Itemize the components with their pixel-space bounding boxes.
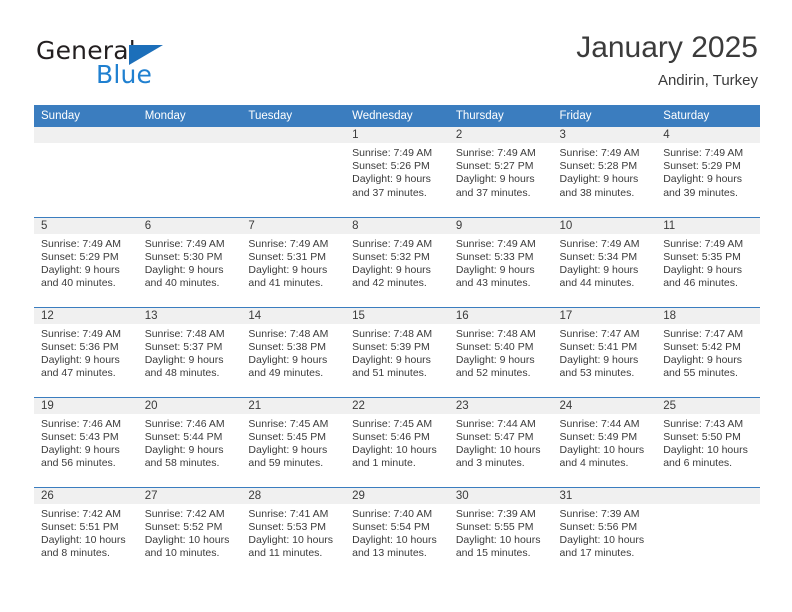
- daylight-duration-line1: Daylight: 9 hours: [145, 354, 236, 367]
- daylight-duration-line2: and 4 minutes.: [560, 457, 651, 470]
- day-details: Sunrise: 7:49 AMSunset: 5:33 PMDaylight:…: [449, 234, 553, 291]
- sunset-time: Sunset: 5:32 PM: [352, 251, 443, 264]
- calendar-day-cell[interactable]: 25Sunrise: 7:43 AMSunset: 5:50 PMDayligh…: [656, 397, 760, 487]
- calendar-day-cell[interactable]: 1Sunrise: 7:49 AMSunset: 5:26 PMDaylight…: [345, 127, 449, 217]
- calendar-day-cell[interactable]: 29Sunrise: 7:40 AMSunset: 5:54 PMDayligh…: [345, 487, 449, 577]
- daylight-duration-line1: Daylight: 9 hours: [248, 444, 339, 457]
- calendar-day-cell[interactable]: 24Sunrise: 7:44 AMSunset: 5:49 PMDayligh…: [553, 397, 657, 487]
- daylight-duration-line1: Daylight: 9 hours: [41, 354, 132, 367]
- day-number: 8: [345, 218, 449, 234]
- sunset-time: Sunset: 5:54 PM: [352, 521, 443, 534]
- daylight-duration-line2: and 40 minutes.: [41, 277, 132, 290]
- sunrise-time: Sunrise: 7:48 AM: [145, 328, 236, 341]
- sunrise-time: Sunrise: 7:48 AM: [248, 328, 339, 341]
- sunset-time: Sunset: 5:56 PM: [560, 521, 651, 534]
- daylight-duration-line1: Daylight: 10 hours: [248, 534, 339, 547]
- daylight-duration-line1: Daylight: 10 hours: [456, 444, 547, 457]
- daylight-duration-line2: and 51 minutes.: [352, 367, 443, 380]
- calendar-day-cell[interactable]: 8Sunrise: 7:49 AMSunset: 5:32 PMDaylight…: [345, 217, 449, 307]
- calendar-day-cell[interactable]: 13Sunrise: 7:48 AMSunset: 5:37 PMDayligh…: [138, 307, 242, 397]
- day-details: Sunrise: 7:49 AMSunset: 5:31 PMDaylight:…: [241, 234, 345, 291]
- day-details: Sunrise: 7:45 AMSunset: 5:46 PMDaylight:…: [345, 414, 449, 471]
- day-number: 27: [138, 488, 242, 504]
- sunset-time: Sunset: 5:42 PM: [663, 341, 754, 354]
- daylight-duration-line2: and 49 minutes.: [248, 367, 339, 380]
- daylight-duration-line2: and 38 minutes.: [560, 187, 651, 200]
- daylight-duration-line2: and 53 minutes.: [560, 367, 651, 380]
- day-details: Sunrise: 7:43 AMSunset: 5:50 PMDaylight:…: [656, 414, 760, 471]
- sunrise-time: Sunrise: 7:43 AM: [663, 418, 754, 431]
- day-details: Sunrise: 7:42 AMSunset: 5:51 PMDaylight:…: [34, 504, 138, 561]
- sunrise-time: Sunrise: 7:42 AM: [41, 508, 132, 521]
- daylight-duration-line1: Daylight: 9 hours: [560, 354, 651, 367]
- day-number: 25: [656, 398, 760, 414]
- daylight-duration-line2: and 8 minutes.: [41, 547, 132, 560]
- daylight-duration-line1: Daylight: 9 hours: [663, 173, 754, 186]
- daylight-duration-line2: and 40 minutes.: [145, 277, 236, 290]
- day-details: Sunrise: 7:44 AMSunset: 5:49 PMDaylight:…: [553, 414, 657, 471]
- daylight-duration-line1: Daylight: 9 hours: [663, 354, 754, 367]
- weekday-header-saturday: Saturday: [656, 105, 760, 127]
- daylight-duration-line1: Daylight: 10 hours: [663, 444, 754, 457]
- sunset-time: Sunset: 5:46 PM: [352, 431, 443, 444]
- daylight-duration-line2: and 17 minutes.: [560, 547, 651, 560]
- day-details: Sunrise: 7:40 AMSunset: 5:54 PMDaylight:…: [345, 504, 449, 561]
- sunrise-time: Sunrise: 7:49 AM: [560, 147, 651, 160]
- sunset-time: Sunset: 5:29 PM: [663, 160, 754, 173]
- sunrise-time: Sunrise: 7:47 AM: [560, 328, 651, 341]
- sunset-time: Sunset: 5:39 PM: [352, 341, 443, 354]
- sunrise-time: Sunrise: 7:39 AM: [560, 508, 651, 521]
- day-details: Sunrise: 7:49 AMSunset: 5:35 PMDaylight:…: [656, 234, 760, 291]
- daylight-duration-line2: and 55 minutes.: [663, 367, 754, 380]
- daylight-duration-line1: Daylight: 9 hours: [456, 173, 547, 186]
- day-number: 29: [345, 488, 449, 504]
- day-number: 12: [34, 308, 138, 324]
- daylight-duration-line2: and 11 minutes.: [248, 547, 339, 560]
- calendar-day-cell-empty: [138, 127, 242, 217]
- day-details: Sunrise: 7:49 AMSunset: 5:26 PMDaylight:…: [345, 143, 449, 200]
- sunrise-time: Sunrise: 7:46 AM: [145, 418, 236, 431]
- day-number: 24: [553, 398, 657, 414]
- daylight-duration-line2: and 13 minutes.: [352, 547, 443, 560]
- day-details: Sunrise: 7:39 AMSunset: 5:55 PMDaylight:…: [449, 504, 553, 561]
- daylight-duration-line1: Daylight: 9 hours: [456, 264, 547, 277]
- calendar-day-cell[interactable]: 7Sunrise: 7:49 AMSunset: 5:31 PMDaylight…: [241, 217, 345, 307]
- calendar-day-cell[interactable]: 19Sunrise: 7:46 AMSunset: 5:43 PMDayligh…: [34, 397, 138, 487]
- day-number: 5: [34, 218, 138, 234]
- sunset-time: Sunset: 5:40 PM: [456, 341, 547, 354]
- calendar-day-cell[interactable]: 5Sunrise: 7:49 AMSunset: 5:29 PMDaylight…: [34, 217, 138, 307]
- calendar-week-row: 26Sunrise: 7:42 AMSunset: 5:51 PMDayligh…: [34, 487, 760, 577]
- sunrise-time: Sunrise: 7:42 AM: [145, 508, 236, 521]
- calendar-day-cell[interactable]: 28Sunrise: 7:41 AMSunset: 5:53 PMDayligh…: [241, 487, 345, 577]
- day-number: 21: [241, 398, 345, 414]
- daylight-duration-line2: and 58 minutes.: [145, 457, 236, 470]
- day-number: 28: [241, 488, 345, 504]
- sunset-time: Sunset: 5:41 PM: [560, 341, 651, 354]
- sunset-time: Sunset: 5:55 PM: [456, 521, 547, 534]
- sunrise-time: Sunrise: 7:49 AM: [41, 238, 132, 251]
- day-details: Sunrise: 7:47 AMSunset: 5:41 PMDaylight:…: [553, 324, 657, 381]
- calendar-day-cell[interactable]: 31Sunrise: 7:39 AMSunset: 5:56 PMDayligh…: [553, 487, 657, 577]
- daylight-duration-line2: and 37 minutes.: [456, 187, 547, 200]
- day-number: 1: [345, 127, 449, 143]
- daylight-duration-line2: and 42 minutes.: [352, 277, 443, 290]
- sunset-time: Sunset: 5:29 PM: [41, 251, 132, 264]
- calendar-day-cell[interactable]: 3Sunrise: 7:49 AMSunset: 5:28 PMDaylight…: [553, 127, 657, 217]
- weekday-header-thursday: Thursday: [449, 105, 553, 127]
- daylight-duration-line2: and 41 minutes.: [248, 277, 339, 290]
- daylight-duration-line2: and 44 minutes.: [560, 277, 651, 290]
- day-details: Sunrise: 7:42 AMSunset: 5:52 PMDaylight:…: [138, 504, 242, 561]
- day-number: 15: [345, 308, 449, 324]
- day-details: Sunrise: 7:41 AMSunset: 5:53 PMDaylight:…: [241, 504, 345, 561]
- day-details: Sunrise: 7:44 AMSunset: 5:47 PMDaylight:…: [449, 414, 553, 471]
- calendar-day-cell-empty: [34, 127, 138, 217]
- day-number: 30: [449, 488, 553, 504]
- calendar-day-cell[interactable]: 9Sunrise: 7:49 AMSunset: 5:33 PMDaylight…: [449, 217, 553, 307]
- calendar-day-cell[interactable]: 14Sunrise: 7:48 AMSunset: 5:38 PMDayligh…: [241, 307, 345, 397]
- calendar-week-row: 19Sunrise: 7:46 AMSunset: 5:43 PMDayligh…: [34, 397, 760, 487]
- day-details: Sunrise: 7:49 AMSunset: 5:29 PMDaylight:…: [656, 143, 760, 200]
- sunrise-time: Sunrise: 7:49 AM: [352, 147, 443, 160]
- daylight-duration-line2: and 1 minute.: [352, 457, 443, 470]
- title-block: January 2025 Andirin, Turkey: [576, 30, 758, 92]
- sunrise-time: Sunrise: 7:46 AM: [41, 418, 132, 431]
- logo-text-blue: Blue: [96, 60, 152, 89]
- calendar-week-row: 12Sunrise: 7:49 AMSunset: 5:36 PMDayligh…: [34, 307, 760, 397]
- calendar-day-cell[interactable]: 11Sunrise: 7:49 AMSunset: 5:35 PMDayligh…: [656, 217, 760, 307]
- calendar-day-cell[interactable]: 27Sunrise: 7:42 AMSunset: 5:52 PMDayligh…: [138, 487, 242, 577]
- weekday-header-wednesday: Wednesday: [345, 105, 449, 127]
- sunset-time: Sunset: 5:47 PM: [456, 431, 547, 444]
- sunrise-time: Sunrise: 7:47 AM: [663, 328, 754, 341]
- sunset-time: Sunset: 5:38 PM: [248, 341, 339, 354]
- day-number: 13: [138, 308, 242, 324]
- calendar-week-row: 1Sunrise: 7:49 AMSunset: 5:26 PMDaylight…: [34, 127, 760, 217]
- daylight-duration-line1: Daylight: 9 hours: [352, 173, 443, 186]
- daylight-duration-line2: and 6 minutes.: [663, 457, 754, 470]
- sunrise-time: Sunrise: 7:49 AM: [663, 238, 754, 251]
- day-number: 31: [553, 488, 657, 504]
- day-number: 3: [553, 127, 657, 143]
- day-number: 19: [34, 398, 138, 414]
- sunset-time: Sunset: 5:26 PM: [352, 160, 443, 173]
- sunset-time: Sunset: 5:34 PM: [560, 251, 651, 264]
- sunrise-time: Sunrise: 7:45 AM: [352, 418, 443, 431]
- day-details: Sunrise: 7:49 AMSunset: 5:36 PMDaylight:…: [34, 324, 138, 381]
- weekday-header-sunday: Sunday: [34, 105, 138, 127]
- sunset-time: Sunset: 5:33 PM: [456, 251, 547, 264]
- sunrise-time: Sunrise: 7:41 AM: [248, 508, 339, 521]
- calendar-day-cell-empty: [656, 487, 760, 577]
- sunrise-time: Sunrise: 7:44 AM: [456, 418, 547, 431]
- calendar-day-cell[interactable]: 17Sunrise: 7:47 AMSunset: 5:41 PMDayligh…: [553, 307, 657, 397]
- day-number: 6: [138, 218, 242, 234]
- day-details: Sunrise: 7:49 AMSunset: 5:28 PMDaylight:…: [553, 143, 657, 200]
- calendar-day-cell[interactable]: 30Sunrise: 7:39 AMSunset: 5:55 PMDayligh…: [449, 487, 553, 577]
- sunset-time: Sunset: 5:50 PM: [663, 431, 754, 444]
- daylight-duration-line2: and 43 minutes.: [456, 277, 547, 290]
- daylight-duration-line1: Daylight: 9 hours: [352, 354, 443, 367]
- day-number: 2: [449, 127, 553, 143]
- sunrise-time: Sunrise: 7:40 AM: [352, 508, 443, 521]
- sunrise-time: Sunrise: 7:49 AM: [248, 238, 339, 251]
- daylight-duration-line2: and 47 minutes.: [41, 367, 132, 380]
- sunset-time: Sunset: 5:30 PM: [145, 251, 236, 264]
- calendar-day-cell[interactable]: 26Sunrise: 7:42 AMSunset: 5:51 PMDayligh…: [34, 487, 138, 577]
- calendar-day-cell[interactable]: 12Sunrise: 7:49 AMSunset: 5:36 PMDayligh…: [34, 307, 138, 397]
- daylight-duration-line1: Daylight: 9 hours: [560, 173, 651, 186]
- calendar-day-cell[interactable]: 21Sunrise: 7:45 AMSunset: 5:45 PMDayligh…: [241, 397, 345, 487]
- sunrise-time: Sunrise: 7:49 AM: [560, 238, 651, 251]
- day-details: Sunrise: 7:48 AMSunset: 5:40 PMDaylight:…: [449, 324, 553, 381]
- sunrise-time: Sunrise: 7:45 AM: [248, 418, 339, 431]
- day-details: Sunrise: 7:49 AMSunset: 5:32 PMDaylight:…: [345, 234, 449, 291]
- day-details: Sunrise: 7:47 AMSunset: 5:42 PMDaylight:…: [656, 324, 760, 381]
- day-details: Sunrise: 7:48 AMSunset: 5:37 PMDaylight:…: [138, 324, 242, 381]
- calendar-day-cell[interactable]: 16Sunrise: 7:48 AMSunset: 5:40 PMDayligh…: [449, 307, 553, 397]
- daylight-duration-line1: Daylight: 10 hours: [352, 444, 443, 457]
- sunrise-time: Sunrise: 7:49 AM: [456, 238, 547, 251]
- weekday-header-friday: Friday: [553, 105, 657, 127]
- daylight-duration-line2: and 48 minutes.: [145, 367, 236, 380]
- day-details: Sunrise: 7:45 AMSunset: 5:45 PMDaylight:…: [241, 414, 345, 471]
- daylight-duration-line2: and 3 minutes.: [456, 457, 547, 470]
- calendar-day-cell[interactable]: 10Sunrise: 7:49 AMSunset: 5:34 PMDayligh…: [553, 217, 657, 307]
- day-number: 26: [34, 488, 138, 504]
- day-number: [138, 127, 242, 143]
- sunrise-time: Sunrise: 7:44 AM: [560, 418, 651, 431]
- calendar-day-cell[interactable]: 22Sunrise: 7:45 AMSunset: 5:46 PMDayligh…: [345, 397, 449, 487]
- sunrise-time: Sunrise: 7:49 AM: [663, 147, 754, 160]
- sunset-time: Sunset: 5:27 PM: [456, 160, 547, 173]
- page-subtitle-location: Andirin, Turkey: [576, 70, 758, 92]
- daylight-duration-line1: Daylight: 10 hours: [145, 534, 236, 547]
- sunset-time: Sunset: 5:36 PM: [41, 341, 132, 354]
- general-blue-logo[interactable]: General Blue: [34, 34, 244, 96]
- sunset-time: Sunset: 5:37 PM: [145, 341, 236, 354]
- calendar-body: 1Sunrise: 7:49 AMSunset: 5:26 PMDaylight…: [34, 127, 760, 577]
- day-number: 20: [138, 398, 242, 414]
- daylight-duration-line2: and 15 minutes.: [456, 547, 547, 560]
- day-details: Sunrise: 7:49 AMSunset: 5:34 PMDaylight:…: [553, 234, 657, 291]
- daylight-duration-line1: Daylight: 10 hours: [560, 444, 651, 457]
- day-number: [34, 127, 138, 143]
- day-details: Sunrise: 7:49 AMSunset: 5:29 PMDaylight:…: [34, 234, 138, 291]
- daylight-duration-line2: and 10 minutes.: [145, 547, 236, 560]
- sunset-time: Sunset: 5:45 PM: [248, 431, 339, 444]
- sunrise-time: Sunrise: 7:39 AM: [456, 508, 547, 521]
- day-number: 17: [553, 308, 657, 324]
- calendar-week-row: 5Sunrise: 7:49 AMSunset: 5:29 PMDaylight…: [34, 217, 760, 307]
- weekday-header-monday: Monday: [138, 105, 242, 127]
- sunset-time: Sunset: 5:51 PM: [41, 521, 132, 534]
- sunrise-time: Sunrise: 7:49 AM: [41, 328, 132, 341]
- sunset-time: Sunset: 5:35 PM: [663, 251, 754, 264]
- sunrise-time: Sunrise: 7:49 AM: [352, 238, 443, 251]
- calendar-day-cell[interactable]: 18Sunrise: 7:47 AMSunset: 5:42 PMDayligh…: [656, 307, 760, 397]
- day-details: Sunrise: 7:46 AMSunset: 5:44 PMDaylight:…: [138, 414, 242, 471]
- day-number: 4: [656, 127, 760, 143]
- sunrise-sunset-calendar: Sunday Monday Tuesday Wednesday Thursday…: [34, 105, 760, 577]
- calendar-day-cell[interactable]: 15Sunrise: 7:48 AMSunset: 5:39 PMDayligh…: [345, 307, 449, 397]
- day-number: [241, 127, 345, 143]
- day-number: 11: [656, 218, 760, 234]
- calendar-day-cell-empty: [241, 127, 345, 217]
- day-number: 23: [449, 398, 553, 414]
- daylight-duration-line1: Daylight: 9 hours: [41, 264, 132, 277]
- sunset-time: Sunset: 5:52 PM: [145, 521, 236, 534]
- daylight-duration-line1: Daylight: 10 hours: [41, 534, 132, 547]
- daylight-duration-line1: Daylight: 9 hours: [352, 264, 443, 277]
- sunrise-time: Sunrise: 7:48 AM: [352, 328, 443, 341]
- daylight-duration-line1: Daylight: 10 hours: [456, 534, 547, 547]
- day-number: 10: [553, 218, 657, 234]
- sunset-time: Sunset: 5:49 PM: [560, 431, 651, 444]
- daylight-duration-line1: Daylight: 10 hours: [352, 534, 443, 547]
- calendar-day-cell[interactable]: 2Sunrise: 7:49 AMSunset: 5:27 PMDaylight…: [449, 127, 553, 217]
- sunrise-time: Sunrise: 7:48 AM: [456, 328, 547, 341]
- daylight-duration-line1: Daylight: 9 hours: [663, 264, 754, 277]
- daylight-duration-line1: Daylight: 9 hours: [145, 264, 236, 277]
- day-details: Sunrise: 7:48 AMSunset: 5:39 PMDaylight:…: [345, 324, 449, 381]
- day-details: Sunrise: 7:39 AMSunset: 5:56 PMDaylight:…: [553, 504, 657, 561]
- calendar-day-cell[interactable]: 20Sunrise: 7:46 AMSunset: 5:44 PMDayligh…: [138, 397, 242, 487]
- daylight-duration-line1: Daylight: 9 hours: [248, 264, 339, 277]
- calendar-day-cell[interactable]: 4Sunrise: 7:49 AMSunset: 5:29 PMDaylight…: [656, 127, 760, 217]
- day-details: Sunrise: 7:46 AMSunset: 5:43 PMDaylight:…: [34, 414, 138, 471]
- daylight-duration-line1: Daylight: 9 hours: [456, 354, 547, 367]
- page-header: General Blue January 2025 Andirin, Turke…: [34, 30, 758, 100]
- sunset-time: Sunset: 5:44 PM: [145, 431, 236, 444]
- daylight-duration-line2: and 52 minutes.: [456, 367, 547, 380]
- page-title: January 2025: [576, 30, 758, 66]
- sunrise-time: Sunrise: 7:49 AM: [145, 238, 236, 251]
- day-details: Sunrise: 7:49 AMSunset: 5:30 PMDaylight:…: [138, 234, 242, 291]
- day-number: 16: [449, 308, 553, 324]
- daylight-duration-line2: and 59 minutes.: [248, 457, 339, 470]
- daylight-duration-line1: Daylight: 9 hours: [560, 264, 651, 277]
- day-number: 9: [449, 218, 553, 234]
- day-details: Sunrise: 7:48 AMSunset: 5:38 PMDaylight:…: [241, 324, 345, 381]
- sunrise-time: Sunrise: 7:49 AM: [456, 147, 547, 160]
- daylight-duration-line1: Daylight: 10 hours: [560, 534, 651, 547]
- day-number: 14: [241, 308, 345, 324]
- calendar-day-cell[interactable]: 6Sunrise: 7:49 AMSunset: 5:30 PMDaylight…: [138, 217, 242, 307]
- sunset-time: Sunset: 5:28 PM: [560, 160, 651, 173]
- calendar-page: General Blue January 2025 Andirin, Turke…: [0, 0, 792, 612]
- day-number: [656, 488, 760, 504]
- daylight-duration-line2: and 37 minutes.: [352, 187, 443, 200]
- sunset-time: Sunset: 5:43 PM: [41, 431, 132, 444]
- daylight-duration-line2: and 56 minutes.: [41, 457, 132, 470]
- day-details: Sunrise: 7:49 AMSunset: 5:27 PMDaylight:…: [449, 143, 553, 200]
- daylight-duration-line1: Daylight: 9 hours: [248, 354, 339, 367]
- sunset-time: Sunset: 5:53 PM: [248, 521, 339, 534]
- day-number: 18: [656, 308, 760, 324]
- daylight-duration-line2: and 39 minutes.: [663, 187, 754, 200]
- day-number: 7: [241, 218, 345, 234]
- daylight-duration-line1: Daylight: 9 hours: [145, 444, 236, 457]
- sunset-time: Sunset: 5:31 PM: [248, 251, 339, 264]
- daylight-duration-line1: Daylight: 9 hours: [41, 444, 132, 457]
- weekday-header-tuesday: Tuesday: [241, 105, 345, 127]
- day-number: 22: [345, 398, 449, 414]
- calendar-day-cell[interactable]: 23Sunrise: 7:44 AMSunset: 5:47 PMDayligh…: [449, 397, 553, 487]
- weekday-header-row: Sunday Monday Tuesday Wednesday Thursday…: [34, 105, 760, 127]
- daylight-duration-line2: and 46 minutes.: [663, 277, 754, 290]
